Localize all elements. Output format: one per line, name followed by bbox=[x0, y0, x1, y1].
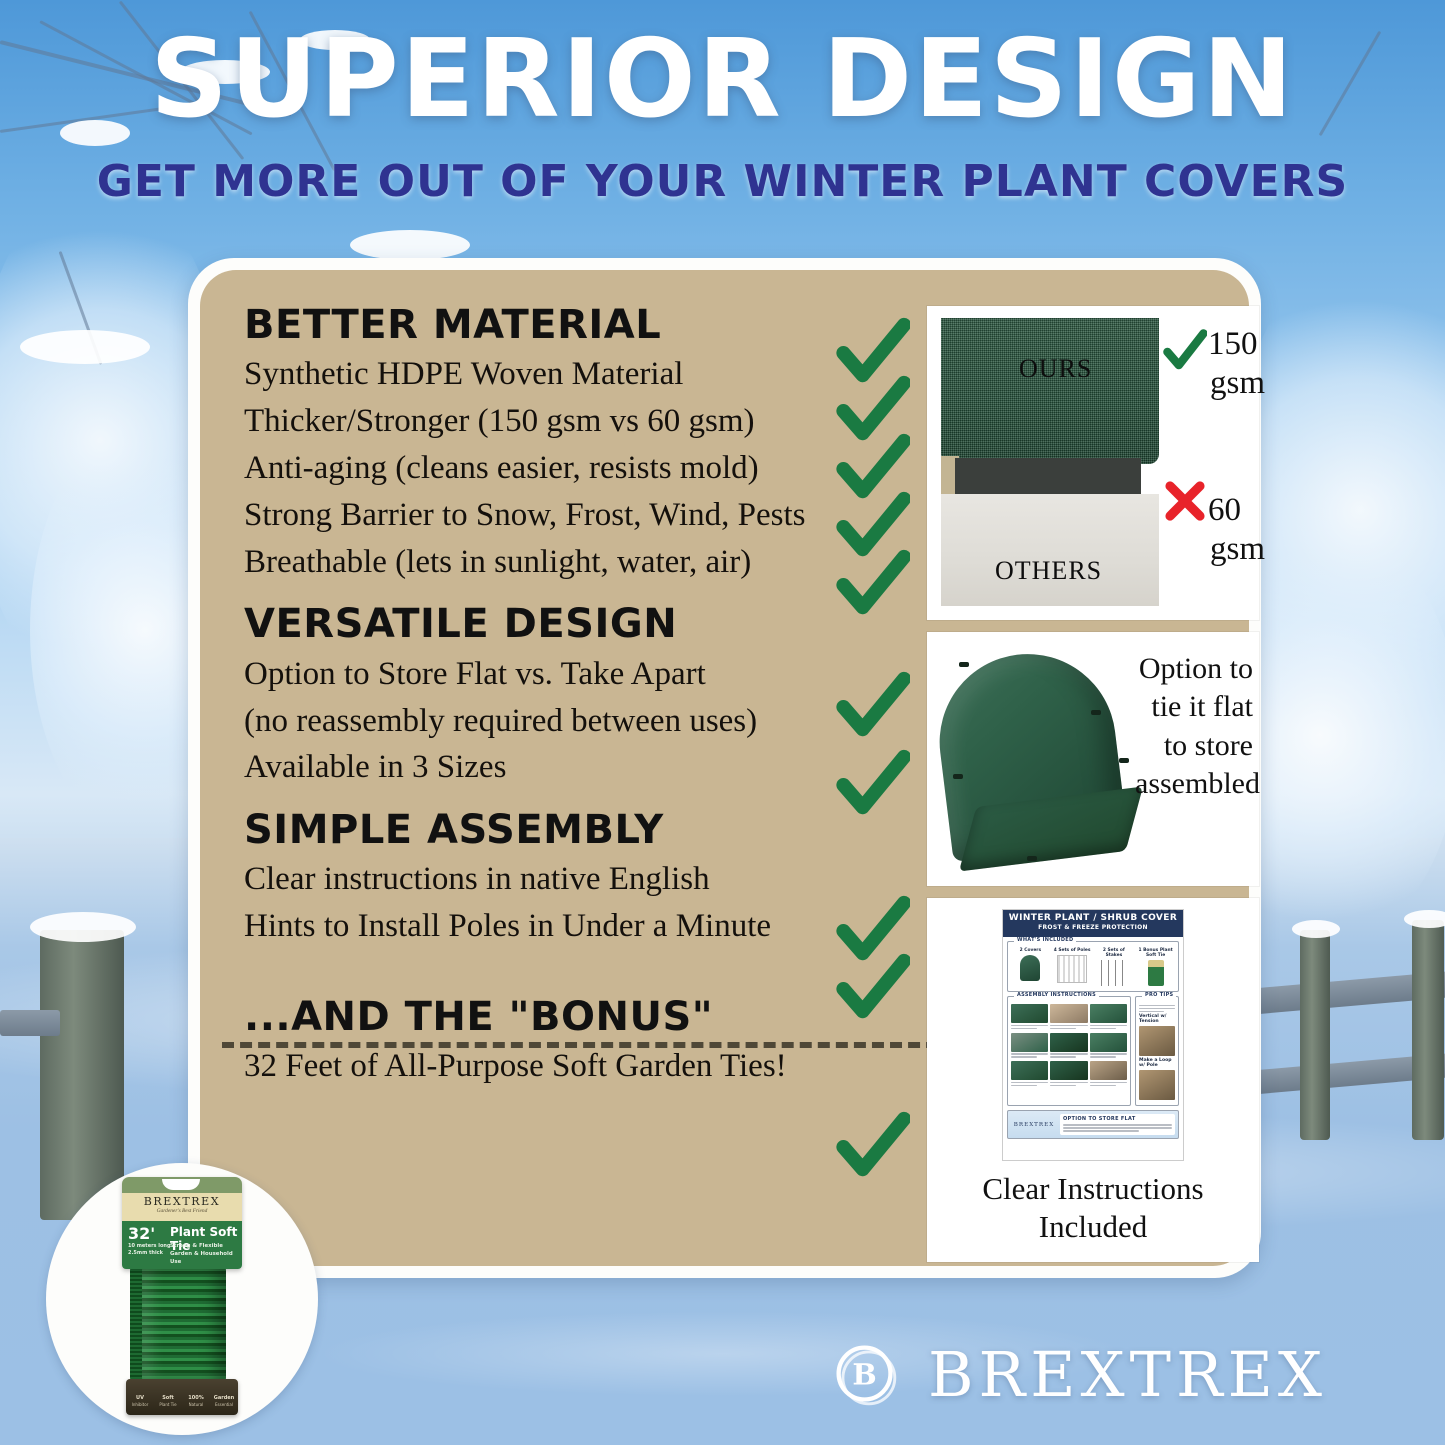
package-footer: UV Inhibitor Soft Plant Tie 100% Natural… bbox=[126, 1379, 238, 1415]
included-label: 1 Bonus Plant Soft Tie bbox=[1136, 948, 1175, 958]
footer-brand: B BREXTREX bbox=[830, 1338, 1327, 1411]
package-brand: BREXTREX bbox=[122, 1195, 242, 1208]
assembly-step bbox=[1090, 1033, 1127, 1060]
product-sub: Strong & Flexible bbox=[170, 1242, 242, 1250]
check-icon bbox=[836, 952, 910, 1026]
spec-bottom: Essential bbox=[215, 1402, 233, 1407]
section-line: Available in 3 Sizes bbox=[244, 744, 844, 791]
cover-tie-icon bbox=[953, 774, 963, 779]
package-header-card: BREXTREX Gardener's Best Friend 32' 10 m… bbox=[122, 1177, 242, 1269]
assembly-step bbox=[1050, 1004, 1087, 1031]
section-title: ...AND THE "BONUS" bbox=[244, 996, 844, 1039]
cross-icon bbox=[1163, 478, 1207, 524]
included-label: 4 Sets of Poles bbox=[1053, 948, 1092, 953]
spec-bottom: Inhibitor bbox=[132, 1402, 149, 1407]
cover-icon bbox=[1020, 955, 1040, 981]
ours-label: OURS bbox=[1019, 354, 1092, 384]
panel-instructions: WINTER PLANT / SHRUB COVER FROST & FREEZ… bbox=[927, 898, 1259, 1262]
svg-text:B: B bbox=[852, 1357, 876, 1391]
spec-top: 100% bbox=[182, 1395, 210, 1402]
fence-post bbox=[1300, 930, 1330, 1140]
section-simple-assembly: SIMPLE ASSEMBLY Clear instructions in na… bbox=[244, 809, 844, 950]
check-icon bbox=[836, 548, 910, 622]
protips-caption: PRO TIPS bbox=[1142, 992, 1176, 998]
ours-gsm-value: 150 bbox=[1208, 326, 1258, 362]
assembly-step bbox=[1011, 1061, 1048, 1088]
feature-text-column: BETTER MATERIAL Synthetic HDPE Woven Mat… bbox=[244, 304, 844, 1104]
length-detail: 10 meters long bbox=[128, 1243, 171, 1250]
tie-coil bbox=[142, 1265, 226, 1383]
panel-material-comparison: OURS OTHERS 150 gsm bbox=[927, 306, 1259, 620]
section-line: Anti-aging (cleans easier, resists mold) bbox=[244, 445, 844, 492]
check-icon bbox=[836, 670, 910, 744]
store-flat-card: OPTION TO STORE FLAT bbox=[1060, 1114, 1175, 1135]
package-length-details: 10 meters long 2.5mm thick bbox=[128, 1243, 171, 1258]
wood-post-left bbox=[40, 930, 124, 1220]
cover-tie-icon bbox=[1091, 710, 1101, 715]
included-label: 2 Sets of Stakes bbox=[1095, 948, 1134, 958]
section-line: Synthetic HDPE Woven Material bbox=[244, 351, 844, 398]
ours-gsm: 150 gsm bbox=[1208, 328, 1265, 400]
section-line: Strong Barrier to Snow, Frost, Wind, Pes… bbox=[244, 492, 844, 539]
protip-title: Vertical w/ Tension bbox=[1139, 1014, 1175, 1024]
length-detail: 2.5mm thick bbox=[128, 1250, 171, 1257]
assembly-step bbox=[1090, 1004, 1127, 1031]
plant-cover-photo bbox=[941, 648, 1131, 870]
sheet-header: WINTER PLANT / SHRUB COVER FROST & FREEZ… bbox=[1003, 910, 1183, 937]
section-better-material: BETTER MATERIAL Synthetic HDPE Woven Mat… bbox=[244, 304, 844, 585]
sheet-brand: BREXTREX bbox=[1011, 1114, 1057, 1135]
sheet-title: WINTER PLANT / SHRUB COVER bbox=[1003, 913, 1183, 923]
comparison-values: 150 gsm 60 g bbox=[1163, 306, 1255, 620]
store-flat-caption: Option to tie it flat to store assembled bbox=[1135, 650, 1253, 804]
page-title: SUPERIOR DESIGN bbox=[0, 26, 1445, 134]
spec-top: Soft bbox=[154, 1395, 182, 1402]
included-label: 2 Covers bbox=[1011, 948, 1050, 953]
included-item: 1 Bonus Plant Soft Tie bbox=[1136, 948, 1175, 988]
stakes-icon bbox=[1101, 960, 1127, 986]
store-flat-box: BREXTREX OPTION TO STORE FLAT bbox=[1007, 1110, 1179, 1139]
sheet-subtitle: FROST & FREEZE PROTECTION bbox=[1003, 924, 1183, 931]
snow-lump bbox=[1292, 920, 1340, 938]
sheet-included-box: WHAT'S INCLUDED 2 Covers 4 Sets of Poles bbox=[1007, 941, 1179, 992]
instruction-sheet: WINTER PLANT / SHRUB COVER FROST & FREEZ… bbox=[1003, 910, 1183, 1160]
feature-card-body: BETTER MATERIAL Synthetic HDPE Woven Mat… bbox=[200, 270, 1249, 1266]
assembly-grid bbox=[1011, 1004, 1127, 1088]
sheet-middle: ASSEMBLY INSTRUCTIONS bbox=[1007, 996, 1179, 1106]
spec-top: Garden bbox=[210, 1395, 238, 1402]
package-specs: UV Inhibitor Soft Plant Tie 100% Natural… bbox=[126, 1395, 238, 1408]
included-caption: WHAT'S INCLUDED bbox=[1014, 937, 1076, 943]
assembly-step bbox=[1011, 1033, 1048, 1060]
assembly-step bbox=[1050, 1061, 1087, 1088]
others-value-row: 60 gsm bbox=[1163, 478, 1265, 566]
spec-bottom: Natural bbox=[189, 1402, 204, 1407]
cover-tie-icon bbox=[959, 662, 969, 667]
protip-image bbox=[1139, 1070, 1175, 1100]
snow-lump bbox=[30, 912, 136, 942]
infographic-root: SUPERIOR DESIGN GET MORE OUT OF YOUR WIN… bbox=[0, 0, 1445, 1445]
assembly-caption: ASSEMBLY INSTRUCTIONS bbox=[1014, 992, 1099, 998]
package-spec: UV Inhibitor bbox=[126, 1395, 154, 1408]
included-item: 2 Covers bbox=[1011, 948, 1050, 988]
instructions-caption: Clear Instructions Included bbox=[927, 1170, 1259, 1246]
product-sub: Garden & Household Use bbox=[170, 1250, 242, 1266]
ours-fabric-swatch bbox=[941, 318, 1159, 464]
package-product-subs: Strong & Flexible Garden & Household Use bbox=[170, 1242, 242, 1266]
others-fabric-swatch bbox=[941, 494, 1159, 606]
feature-card: BETTER MATERIAL Synthetic HDPE Woven Mat… bbox=[188, 258, 1261, 1278]
others-gsm: 60 gsm bbox=[1208, 494, 1265, 566]
cover-tie-icon bbox=[1027, 856, 1037, 861]
instructions-caption-line2: Included bbox=[927, 1208, 1259, 1246]
package-length: 32' bbox=[128, 1224, 155, 1243]
ours-gsm-unit: gsm bbox=[1210, 367, 1265, 400]
fence-post bbox=[1412, 920, 1444, 1140]
panel-store-flat: Option to tie it flat to store assembled bbox=[927, 632, 1259, 886]
others-label: OTHERS bbox=[995, 556, 1102, 586]
protip-title: Make a Loop w/ Pole bbox=[1139, 1058, 1175, 1068]
store-flat-caption-sheet: OPTION TO STORE FLAT bbox=[1063, 1116, 1172, 1122]
section-title: SIMPLE ASSEMBLY bbox=[244, 809, 844, 852]
hang-hole-icon bbox=[162, 1179, 200, 1190]
tie-icon bbox=[1148, 960, 1164, 986]
others-gsm-value: 60 bbox=[1208, 492, 1241, 528]
assembly-step bbox=[1011, 1004, 1048, 1031]
snow-lump bbox=[350, 230, 470, 260]
cover-tie-icon bbox=[1119, 758, 1129, 763]
section-line: Hints to Install Poles in Under a Minute bbox=[244, 903, 844, 950]
package-spec: Soft Plant Tie bbox=[154, 1395, 182, 1408]
section-line: (no reassembly required between uses) bbox=[244, 698, 844, 745]
section-line: Option to Store Flat vs. Take Apart bbox=[244, 651, 844, 698]
section-line: Clear instructions in native English bbox=[244, 856, 844, 903]
included-items: 2 Covers 4 Sets of Poles 2 Sets of Stake… bbox=[1011, 948, 1175, 988]
assembly-step bbox=[1050, 1033, 1087, 1060]
fence-rail bbox=[0, 1010, 60, 1036]
soft-tie-package: UV Inhibitor Soft Plant Tie 100% Natural… bbox=[122, 1177, 242, 1427]
section-line: 32 Feet of All-Purpose Soft Garden Ties! bbox=[244, 1043, 844, 1090]
included-item: 4 Sets of Poles bbox=[1053, 948, 1092, 988]
section-line: Breathable (lets in sunlight, water, air… bbox=[244, 539, 844, 586]
fabric-comparison-photo: OURS OTHERS bbox=[941, 318, 1159, 606]
snow-lump bbox=[1404, 910, 1445, 928]
snow-lump bbox=[20, 330, 150, 364]
section-title: VERSATILE DESIGN bbox=[244, 603, 844, 646]
check-icon bbox=[1163, 328, 1207, 374]
brand-logo-icon: B bbox=[830, 1339, 902, 1411]
brand-name: BREXTREX bbox=[928, 1338, 1327, 1411]
assembly-box: ASSEMBLY INSTRUCTIONS bbox=[1007, 996, 1131, 1106]
spec-top: UV bbox=[126, 1395, 154, 1402]
spec-bottom: Plant Tie bbox=[159, 1402, 176, 1407]
included-item: 2 Sets of Stakes bbox=[1095, 948, 1134, 988]
instructions-caption-line1: Clear Instructions bbox=[927, 1170, 1259, 1208]
check-icon bbox=[836, 748, 910, 822]
package-spec: 100% Natural bbox=[182, 1395, 210, 1408]
check-icon bbox=[836, 1110, 910, 1184]
section-title: BETTER MATERIAL bbox=[244, 304, 844, 347]
package-tagline: Gardener's Best Friend bbox=[122, 1208, 242, 1214]
ours-value-row: 150 gsm bbox=[1163, 328, 1265, 400]
bonus-product-circle: UV Inhibitor Soft Plant Tie 100% Natural… bbox=[46, 1163, 318, 1435]
poles-icon bbox=[1057, 955, 1087, 983]
protip-image bbox=[1139, 1026, 1175, 1056]
protips-box: PRO TIPS Vertical w/ Tension Make a Loop… bbox=[1135, 996, 1179, 1106]
section-versatile-design: VERSATILE DESIGN Option to Store Flat vs… bbox=[244, 603, 844, 791]
assembly-step bbox=[1090, 1061, 1127, 1088]
package-spec: Garden Essential bbox=[210, 1395, 238, 1408]
section-line: Thicker/Stronger (150 gsm vs 60 gsm) bbox=[244, 398, 844, 445]
page-subtitle: GET MORE OUT OF YOUR WINTER PLANT COVERS bbox=[0, 160, 1445, 204]
checkmark-column bbox=[836, 270, 928, 1266]
others-gsm-unit: gsm bbox=[1210, 533, 1265, 566]
